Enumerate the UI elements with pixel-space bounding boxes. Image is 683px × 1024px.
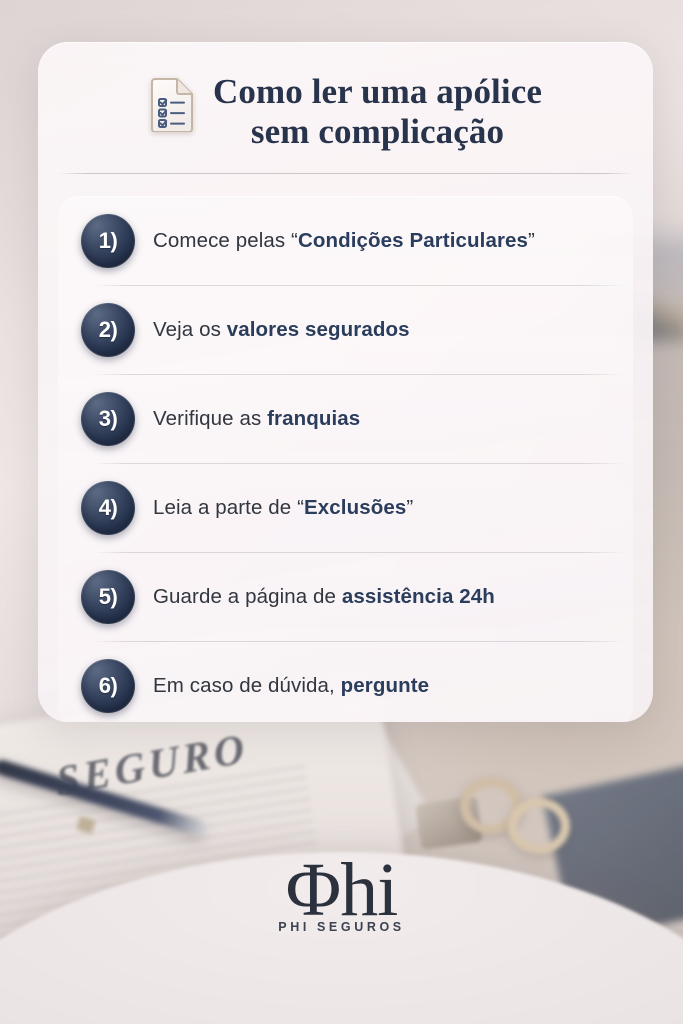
content-card: Como ler uma apólice sem complicação 1) … [38, 42, 653, 722]
poster-canvas: SEGURO [0, 0, 683, 1024]
step-text-strong: Exclusões [304, 496, 406, 519]
step-text-strong: pergunte [341, 674, 430, 697]
card-header: Como ler uma apólice sem complicação [38, 42, 653, 151]
brand-logo: Φhi PHI SEGUROS [0, 856, 683, 934]
step-text-strong: assistência 24h [342, 585, 495, 608]
step-number-badge: 4) [81, 481, 135, 535]
header-divider [58, 173, 633, 174]
step-text-strong: valores segurados [227, 318, 410, 341]
step-text: Veja os valores segurados [153, 317, 410, 343]
page-title: Como ler uma apólice sem complicação [213, 70, 542, 151]
step-text: Guarde a página de assistência 24h [153, 584, 495, 610]
brand-logo-mark: Φhi [286, 856, 398, 926]
step-number-badge: 1) [81, 214, 135, 268]
list-item[interactable]: 3) Verifique as franquias [58, 374, 633, 463]
list-item[interactable]: 2) Veja os valores segurados [58, 285, 633, 374]
step-text: Leia a parte de “Exclusões” [153, 495, 413, 521]
page-title-line-2: sem complicação [213, 112, 542, 152]
step-text-suffix: ” [528, 229, 535, 252]
step-text-prefix: Guarde a página de [153, 585, 342, 608]
step-number-badge: 2) [81, 303, 135, 357]
step-text-prefix: Veja os [153, 318, 227, 341]
step-text-prefix: Verifique as [153, 407, 267, 430]
step-text: Verifique as franquias [153, 406, 360, 432]
list-item[interactable]: 1) Comece pelas “Condições Particulares” [58, 196, 633, 285]
step-text-prefix: Leia a parte de “ [153, 496, 304, 519]
step-text-prefix: Comece pelas “ [153, 229, 298, 252]
checklist-document-icon [149, 78, 195, 132]
step-number-badge: 6) [81, 659, 135, 713]
list-item[interactable]: 4) Leia a parte de “Exclusões” [58, 463, 633, 552]
list-item[interactable]: 5) Guarde a página de assistência 24h [58, 552, 633, 641]
step-number-badge: 5) [81, 570, 135, 624]
step-text-strong: Condições Particulares [298, 229, 528, 252]
step-text-strong: franquias [267, 407, 360, 430]
step-text: Comece pelas “Condições Particulares” [153, 228, 535, 254]
step-number-badge: 3) [81, 392, 135, 446]
page-title-line-1: Como ler uma apólice [213, 72, 542, 112]
step-text: Em caso de dúvida, pergunte [153, 673, 429, 699]
steps-list: 1) Comece pelas “Condições Particulares”… [58, 196, 633, 722]
step-text-suffix: ” [406, 496, 413, 519]
list-item[interactable]: 6) Em caso de dúvida, pergunte [58, 641, 633, 722]
step-text-prefix: Em caso de dúvida, [153, 674, 341, 697]
